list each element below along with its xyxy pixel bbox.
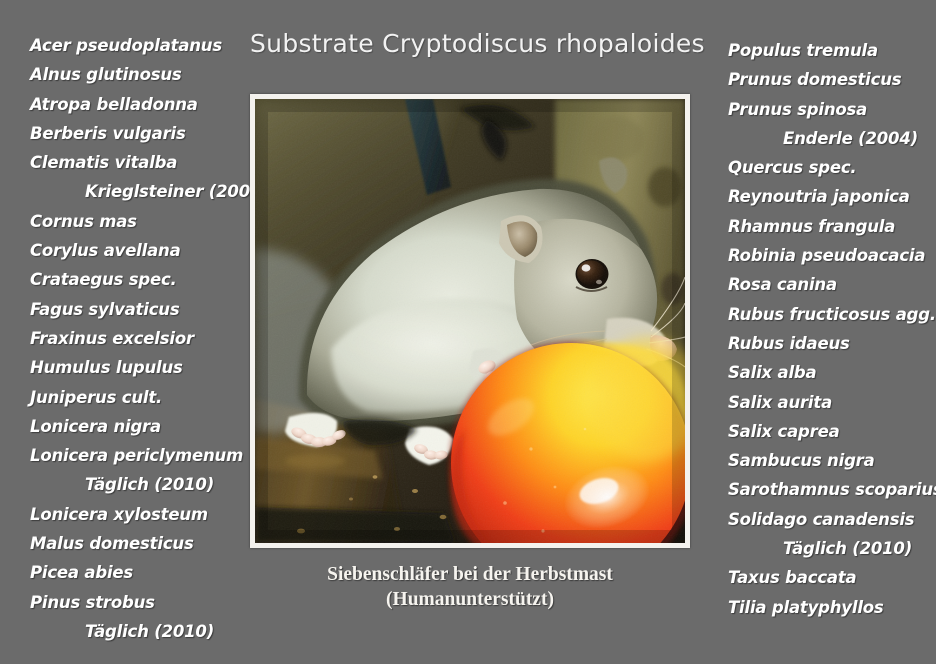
species-right-item: Rhamnus frangula xyxy=(728,212,936,241)
species-left-item: Acer pseudoplatanus xyxy=(30,31,270,60)
species-left-item: Berberis vulgaris xyxy=(30,119,270,148)
species-right-item: Salix alba xyxy=(728,358,936,387)
species-left-item: Lonicera periclymenum xyxy=(30,441,270,470)
species-left-item: Humulus lupulus xyxy=(30,353,270,382)
species-left-item: Lonicera nigra xyxy=(30,412,270,441)
species-left-reference: Krieglsteiner (2004) xyxy=(30,177,270,206)
dormouse-apple-photo xyxy=(255,99,685,543)
photo-caption-line-2: (Humanunterstützt) xyxy=(250,587,690,612)
photo-frame xyxy=(250,94,690,548)
species-right-item: Rubus fructicosus agg. xyxy=(728,300,936,329)
page-title: Substrate Cryptodiscus rhopaloides xyxy=(250,29,690,58)
species-left-reference: Täglich (2010) xyxy=(30,470,270,499)
species-right-item: Salix caprea xyxy=(728,417,936,446)
species-list-left: Acer pseudoplatanusAlnus glutinosusAtrop… xyxy=(30,31,270,646)
species-left-item: Lonicera xylosteum xyxy=(30,500,270,529)
species-right-item: Populus tremula xyxy=(728,36,936,65)
species-right-item: Prunus domesticus xyxy=(728,65,936,94)
species-left-item: Fraxinus excelsior xyxy=(30,324,270,353)
species-right-item: Tilia platyphyllos xyxy=(728,593,936,622)
species-right-item: Rosa canina xyxy=(728,270,936,299)
species-right-item: Taxus baccata xyxy=(728,563,936,592)
photo-caption: Siebenschläfer bei der Herbstmast (Human… xyxy=(250,562,690,612)
species-left-item: Cornus mas xyxy=(30,207,270,236)
species-right-item: Sarothamnus scoparius xyxy=(728,475,936,504)
species-right-item: Salix aurita xyxy=(728,388,936,417)
species-right-item: Sambucus nigra xyxy=(728,446,936,475)
species-right-item: Robinia pseudoacacia xyxy=(728,241,936,270)
species-left-item: Juniperus cult. xyxy=(30,383,270,412)
photo-caption-line-1: Siebenschläfer bei der Herbstmast xyxy=(250,562,690,587)
species-left-item: Pinus strobus xyxy=(30,588,270,617)
species-right-item: Prunus spinosa xyxy=(728,95,936,124)
species-right-item: Rubus idaeus xyxy=(728,329,936,358)
species-left-reference: Täglich (2010) xyxy=(30,617,270,646)
species-right-reference: Enderle (2004) xyxy=(728,124,936,153)
species-left-item: Clematis vitalba xyxy=(30,148,270,177)
species-list-right: Populus tremulaPrunus domesticusPrunus s… xyxy=(728,36,936,622)
species-left-item: Picea abies xyxy=(30,558,270,587)
species-right-reference: Täglich (2010) xyxy=(728,534,936,563)
species-right-item: Reynoutria japonica xyxy=(728,182,936,211)
species-left-item: Atropa belladonna xyxy=(30,90,270,119)
species-left-item: Alnus glutinosus xyxy=(30,60,270,89)
species-left-item: Fagus sylvaticus xyxy=(30,295,270,324)
species-left-item: Malus domesticus xyxy=(30,529,270,558)
species-left-item: Crataegus spec. xyxy=(30,265,270,294)
species-left-item: Corylus avellana xyxy=(30,236,270,265)
presentation-slide: Substrate Cryptodiscus rhopaloides Acer … xyxy=(0,0,936,664)
species-right-item: Quercus spec. xyxy=(728,153,936,182)
species-right-item: Solidago canadensis xyxy=(728,505,936,534)
